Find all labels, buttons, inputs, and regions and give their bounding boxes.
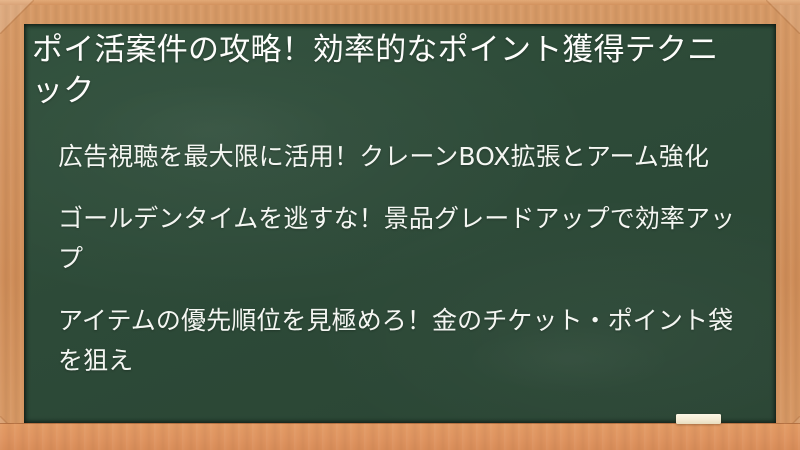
list-item: アイテムの優先順位を見極めろ！金のチケット・ポイント袋を狙え — [58, 301, 746, 381]
bullet-list: 広告視聴を最大限に活用！クレーンBOX拡張とアーム強化 ゴールデンタイムを逃すな… — [32, 137, 746, 381]
frame-top-highlight — [0, 0, 800, 5]
chalkboard-surface: ポイ活案件の攻略！効率的なポイント獲得テクニック 広告視聴を最大限に活用！クレー… — [24, 24, 776, 423]
chalk-ledge — [0, 423, 800, 450]
slide-title: ポイ活案件の攻略！効率的なポイント獲得テクニック — [32, 30, 746, 112]
list-item: 広告視聴を最大限に活用！クレーンBOX拡張とアーム強化 — [58, 137, 746, 177]
board-content: ポイ活案件の攻略！効率的なポイント獲得テクニック 広告視聴を最大限に活用！クレー… — [24, 24, 776, 423]
blackboard-slide: ポイ活案件の攻略！効率的なポイント獲得テクニック 広告視聴を最大限に活用！クレー… — [0, 0, 800, 450]
chalk-stick-icon — [676, 414, 721, 424]
list-item: ゴールデンタイムを逃すな！景品グレードアップで効率アップ — [58, 199, 746, 279]
